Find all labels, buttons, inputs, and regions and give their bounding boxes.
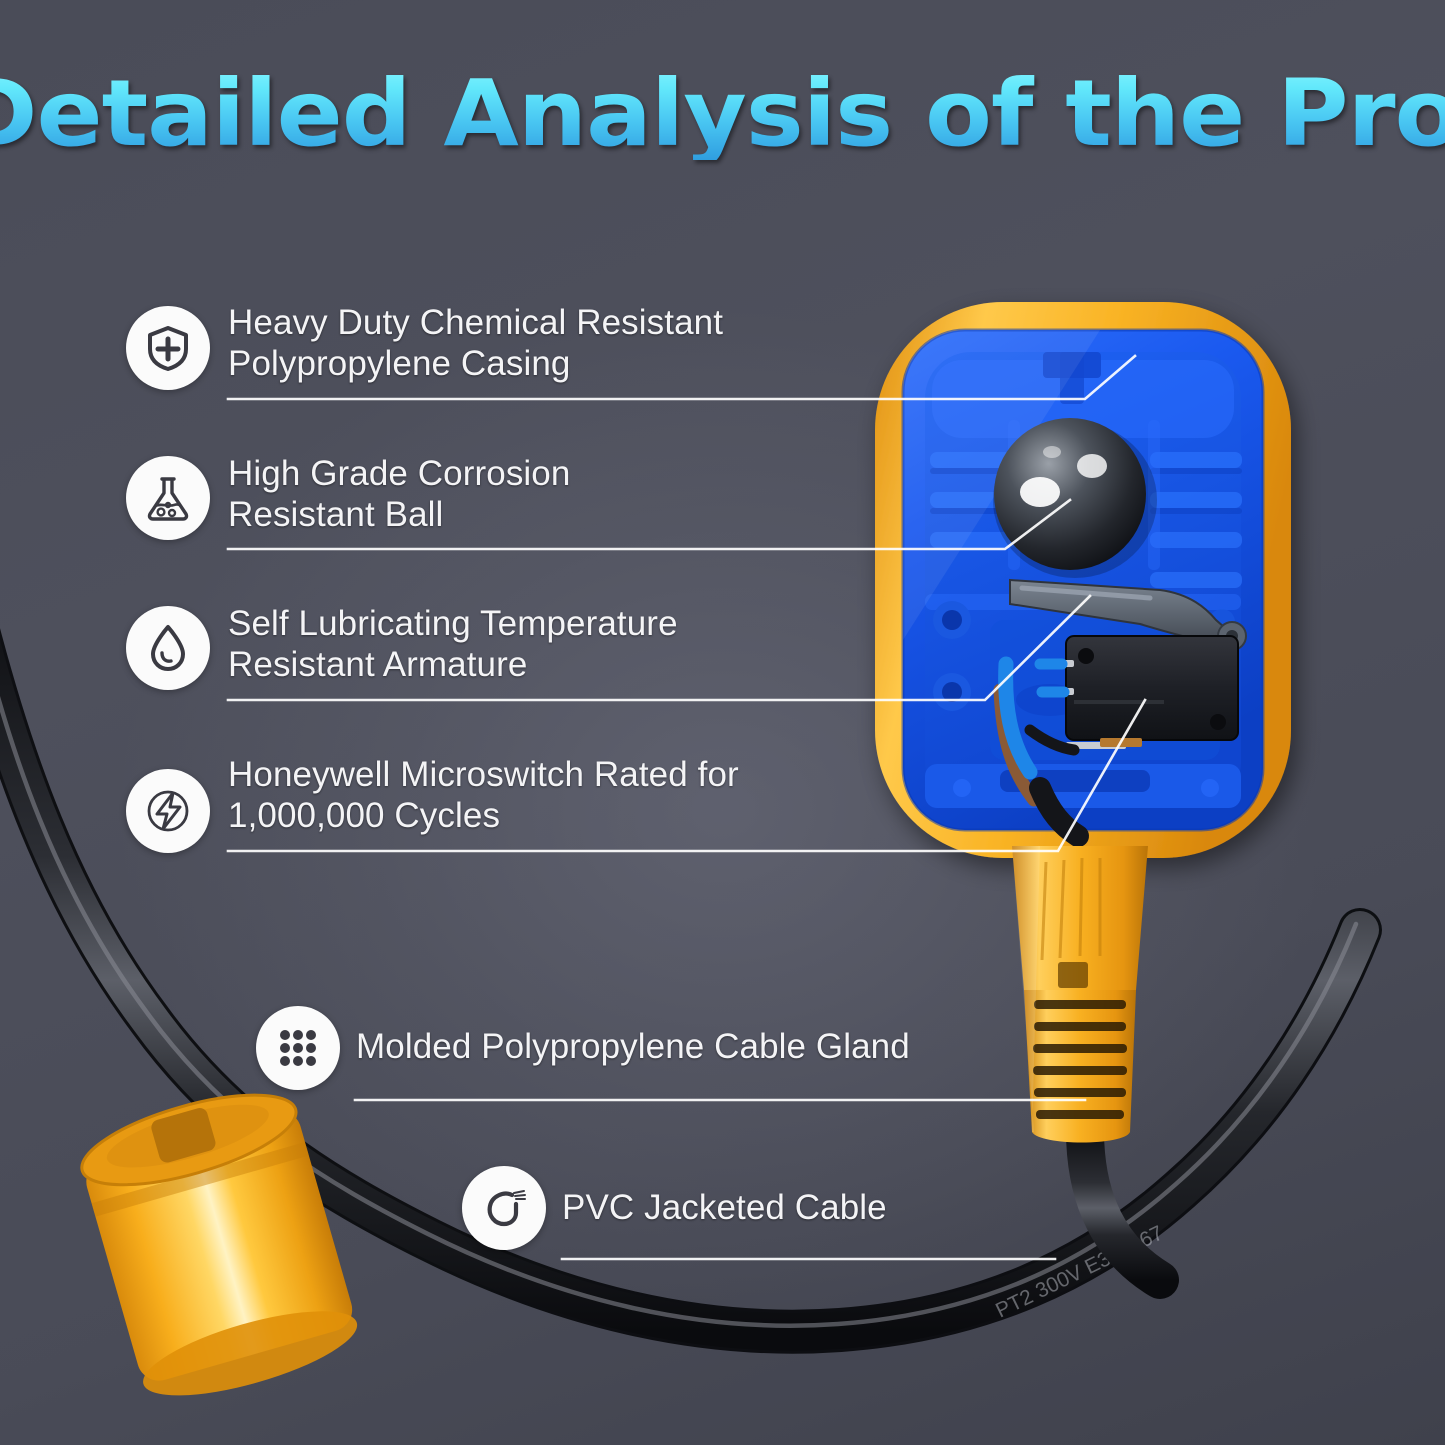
water-drop-icon <box>126 606 210 690</box>
coiled-cable-icon <box>462 1166 546 1250</box>
feature-label-ball: High Grade Corrosion Resistant Ball <box>228 454 848 536</box>
lightning-bolt-icon <box>126 769 210 853</box>
internal-wires <box>1000 664 1078 836</box>
yellow-outer-housing <box>875 302 1291 858</box>
blue-inner-housing <box>903 330 1263 830</box>
yellow-cable-gland <box>1012 846 1148 1143</box>
steel-ball <box>993 418 1157 578</box>
flask-icon <box>126 456 210 540</box>
page-title: Detailed Analysis of the Product <box>0 68 1445 160</box>
yellow-counterweight <box>73 1077 365 1413</box>
feature-label-pvc-cable: PVC Jacketed Cable <box>562 1188 1122 1229</box>
dot-grid-icon <box>256 1006 340 1090</box>
cable-marking-text: PT2 300V E343367 <box>992 1221 1167 1322</box>
feature-label-cable-gland: Molded Polypropylene Cable Gland <box>356 1027 1056 1068</box>
feature-label-armature: Self Lubricating Temperature Resistant A… <box>228 604 848 686</box>
infographic-canvas: Detailed Analysis of the Product <box>0 0 1445 1445</box>
shield-plus-icon <box>126 306 210 390</box>
feature-label-microswitch: Honeywell Microswitch Rated for 1,000,00… <box>228 755 868 837</box>
black-microswitch <box>1040 636 1238 749</box>
grey-armature-lever <box>1010 580 1246 650</box>
feature-label-casing: Heavy Duty Chemical Resistant Polypropyl… <box>228 303 848 385</box>
